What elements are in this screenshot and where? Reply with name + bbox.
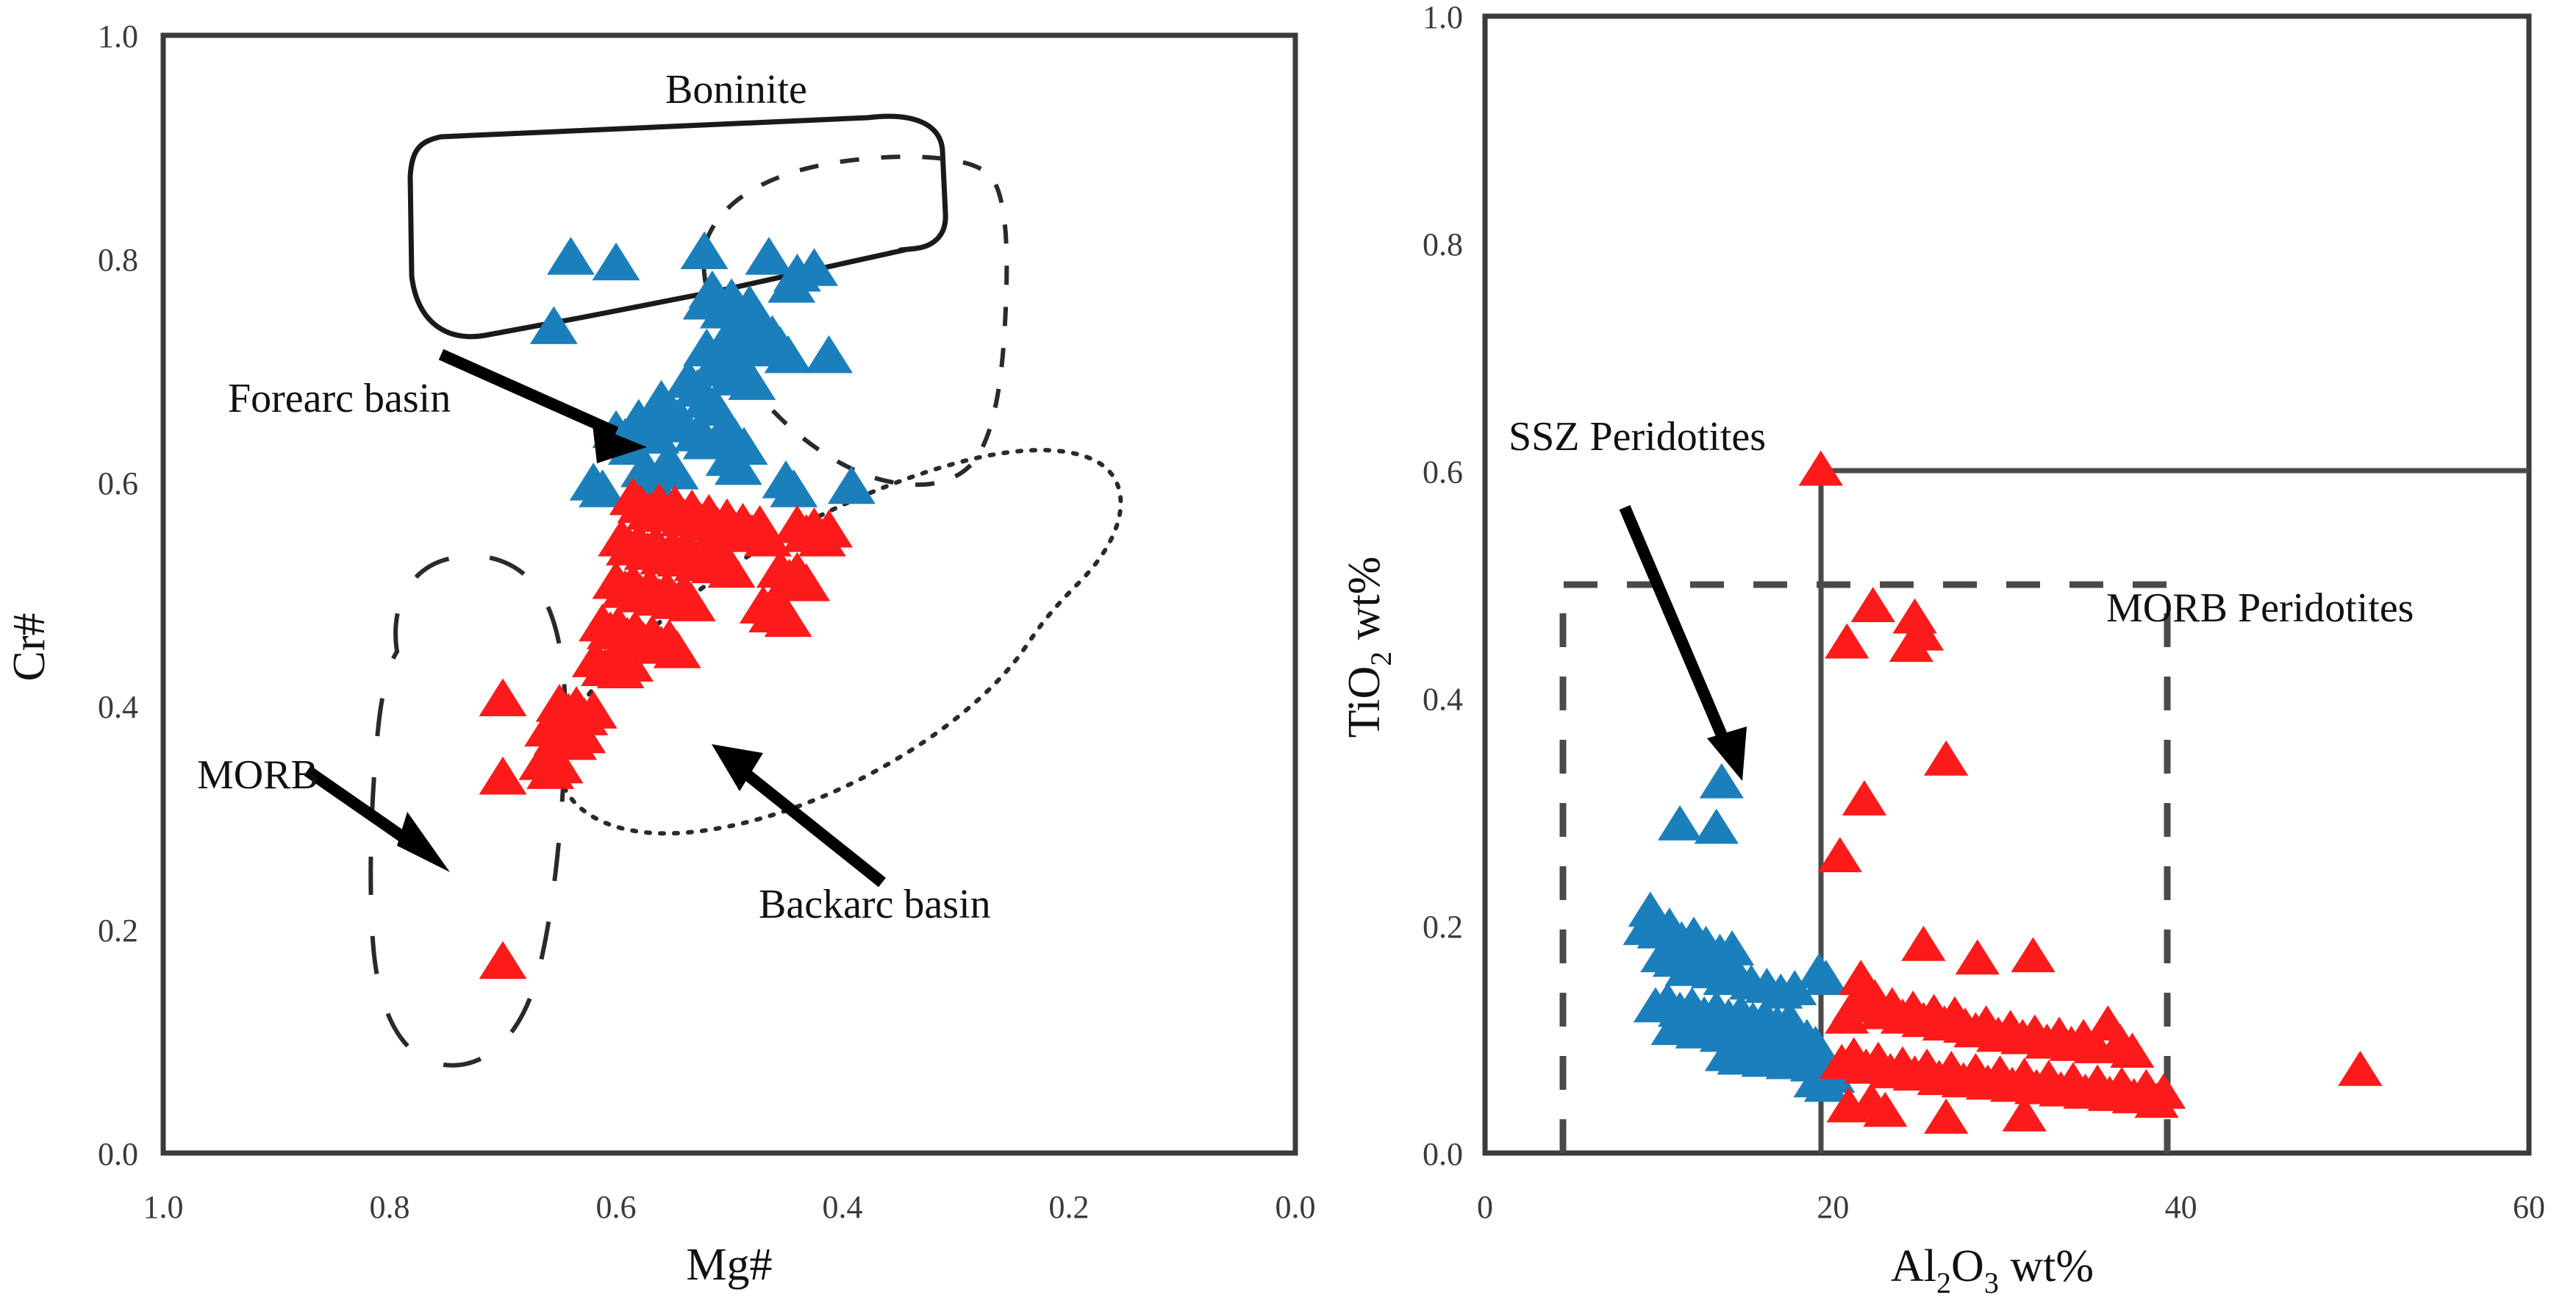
x-tick-label: 0.2 [1049,1189,1090,1225]
y-tick-label: 0.0 [1423,1136,1463,1172]
forearc-basin-label: Forearc basin [228,376,451,421]
left-panel-cr-mg: Boninite Forearc basin MORB Backarc basi… [0,0,1345,1306]
y-tick-label: 0.2 [1423,909,1463,945]
figure-root: Boninite Forearc basin MORB Backarc basi… [0,0,2576,1306]
right-x-title-tail: wt% [1999,1241,2094,1291]
x-tick-label: 0.8 [370,1189,410,1225]
x-tick-label: 0.0 [1276,1189,1316,1225]
x-tick-label: 20 [1817,1189,1849,1225]
y-tick-label: 0.4 [1423,682,1463,718]
right-y-axis-title: TiO2 wt% [1345,557,1398,738]
ssz-peridotites-label: SSZ Peridotites [1509,414,1766,460]
y-tick-label: 0.4 [98,689,138,725]
y-tick-label: 0.2 [98,913,138,949]
x-tick-label: 40 [2165,1189,2197,1225]
right-plot-svg: SSZ Peridotites MORB Peridotites 0.00.20… [1345,0,2576,1306]
right-panel-tio2-al2o3: SSZ Peridotites MORB Peridotites 0.00.20… [1345,0,2576,1306]
right-y-title-sub: 2 [1364,652,1398,666]
right-y-title-tail: wt% [1345,557,1389,652]
right-x-title-lead: Al [1891,1241,1936,1291]
left-y-tick-labels: 0.00.20.40.60.81.0 [98,18,138,1172]
y-tick-label: 0.8 [1423,226,1463,263]
y-tick-label: 1.0 [1423,0,1463,35]
morb-label: MORB [197,752,318,798]
y-tick-label: 0.0 [98,1136,138,1172]
x-tick-label: 0.4 [823,1189,863,1225]
x-tick-label: 0 [1477,1189,1493,1225]
right-y-tick-labels: 0.00.20.40.60.81.0 [1423,0,1463,1172]
left-y-axis-title: Cr# [4,613,54,682]
y-tick-label: 1.0 [98,18,138,54]
right-x-title-sub2: 3 [1984,1266,1999,1299]
y-tick-label: 0.6 [98,465,138,502]
right-x-title-sub1: 2 [1936,1266,1951,1299]
right-x-tick-labels: 0204060 [1477,1189,2545,1225]
morb-peridotites-label: MORB Peridotites [2106,585,2414,631]
right-x-axis-title: Al2O3 wt% [1891,1241,2094,1299]
left-x-tick-labels: 1.00.80.60.40.20.0 [143,1189,1316,1225]
x-tick-label: 60 [2513,1189,2545,1225]
left-plot-frame [163,35,1295,1153]
x-tick-label: 0.6 [596,1189,637,1225]
backarc-basin-label: Backarc basin [759,882,991,927]
y-tick-label: 0.8 [98,242,138,278]
boninite-label: Boninite [665,67,807,113]
right-y-title-lead: TiO [1345,666,1389,738]
x-tick-label: 1.0 [143,1189,184,1225]
right-x-title-mid: O [1951,1241,1984,1291]
y-tick-label: 0.6 [1423,454,1463,490]
left-plot-svg: Boninite Forearc basin MORB Backarc basi… [0,0,1345,1306]
left-x-axis-title: Mg# [686,1240,772,1290]
